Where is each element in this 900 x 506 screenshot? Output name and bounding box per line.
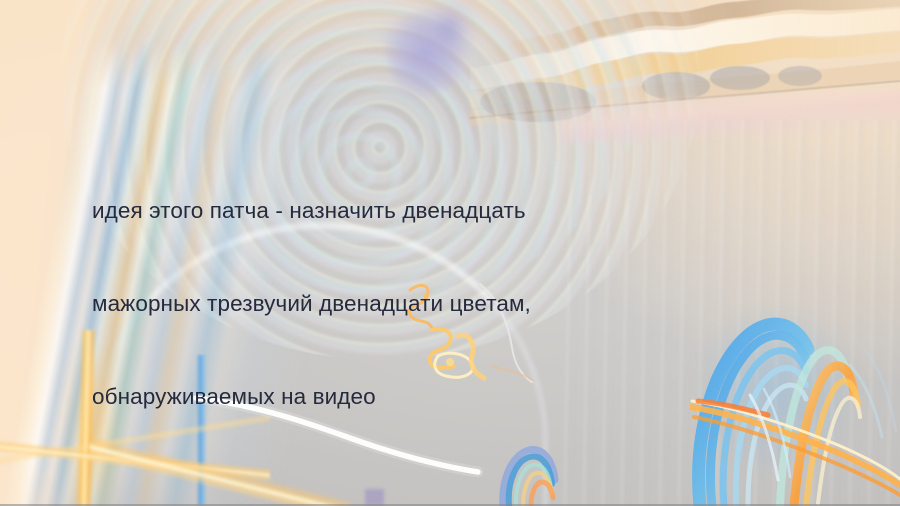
video-frame: идея этого патча - назначить двенадцать …	[0, 0, 900, 506]
caption-text: идея этого патча - назначить двенадцать …	[92, 133, 732, 474]
caption-line-3: обнаруживаемых на видео	[92, 381, 732, 412]
caption-line-1: идея этого патча - назначить двенадцать	[92, 195, 732, 226]
caption-line-2: мажорных трезвучий двенадцати цветам,	[92, 288, 732, 319]
